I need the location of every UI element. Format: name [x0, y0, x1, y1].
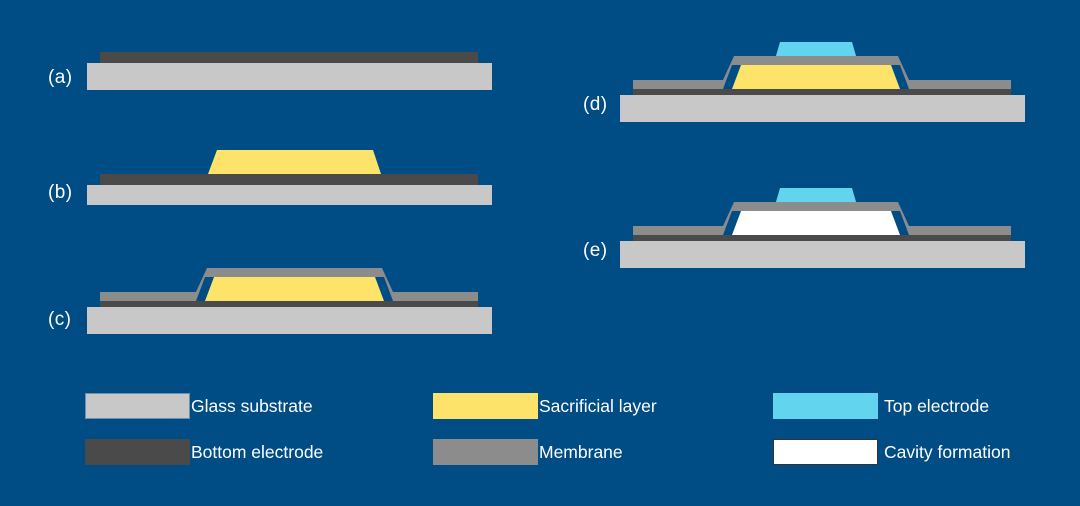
- legend-swatch-bottom-electrode: [85, 439, 190, 465]
- legend-swatch-cavity-formation: [773, 439, 878, 465]
- panel-c-sacrificial-layer: [205, 277, 384, 301]
- legend-label-glass-substrate: Glass substrate: [191, 398, 313, 416]
- legend-label-membrane: Membrane: [539, 444, 623, 462]
- panel-b-glass-substrate: [87, 185, 492, 205]
- panel-e-glass-substrate: [620, 241, 1025, 268]
- panel-c-label: (c): [48, 309, 71, 330]
- panel-b-bottom-electrode: [100, 174, 478, 185]
- panel-e-cavity-formation: [732, 211, 900, 235]
- panel-a-bottom-electrode: [100, 52, 478, 63]
- legend-swatch-sacrificial-layer: [433, 393, 538, 419]
- panel-d-label: (d): [583, 94, 607, 115]
- legend-swatch-glass-substrate: [85, 393, 190, 419]
- legend-label-cavity-formation: Cavity formation: [884, 444, 1010, 462]
- process-flow-diagram: (a) (b) (c) (d) (e): [0, 0, 1080, 506]
- panel-c-glass-substrate: [87, 307, 492, 334]
- panel-d-glass-substrate: [620, 95, 1025, 122]
- panel-a: (a): [48, 52, 492, 90]
- legend-swatch-top-electrode: [773, 393, 878, 419]
- panel-a-label: (a): [48, 67, 72, 88]
- legend-label-sacrificial-layer: Sacrificial layer: [539, 398, 657, 416]
- panel-a-glass-substrate: [87, 63, 492, 90]
- legend-label-bottom-electrode: Bottom electrode: [191, 444, 323, 462]
- panel-d-sacrificial-layer: [732, 65, 900, 89]
- panel-b-label: (b): [48, 182, 72, 203]
- panel-b-sacrificial-layer: [208, 150, 381, 174]
- legend-swatch-membrane: [433, 439, 538, 465]
- panel-e-label: (e): [583, 240, 607, 261]
- legend-label-top-electrode: Top electrode: [884, 398, 989, 416]
